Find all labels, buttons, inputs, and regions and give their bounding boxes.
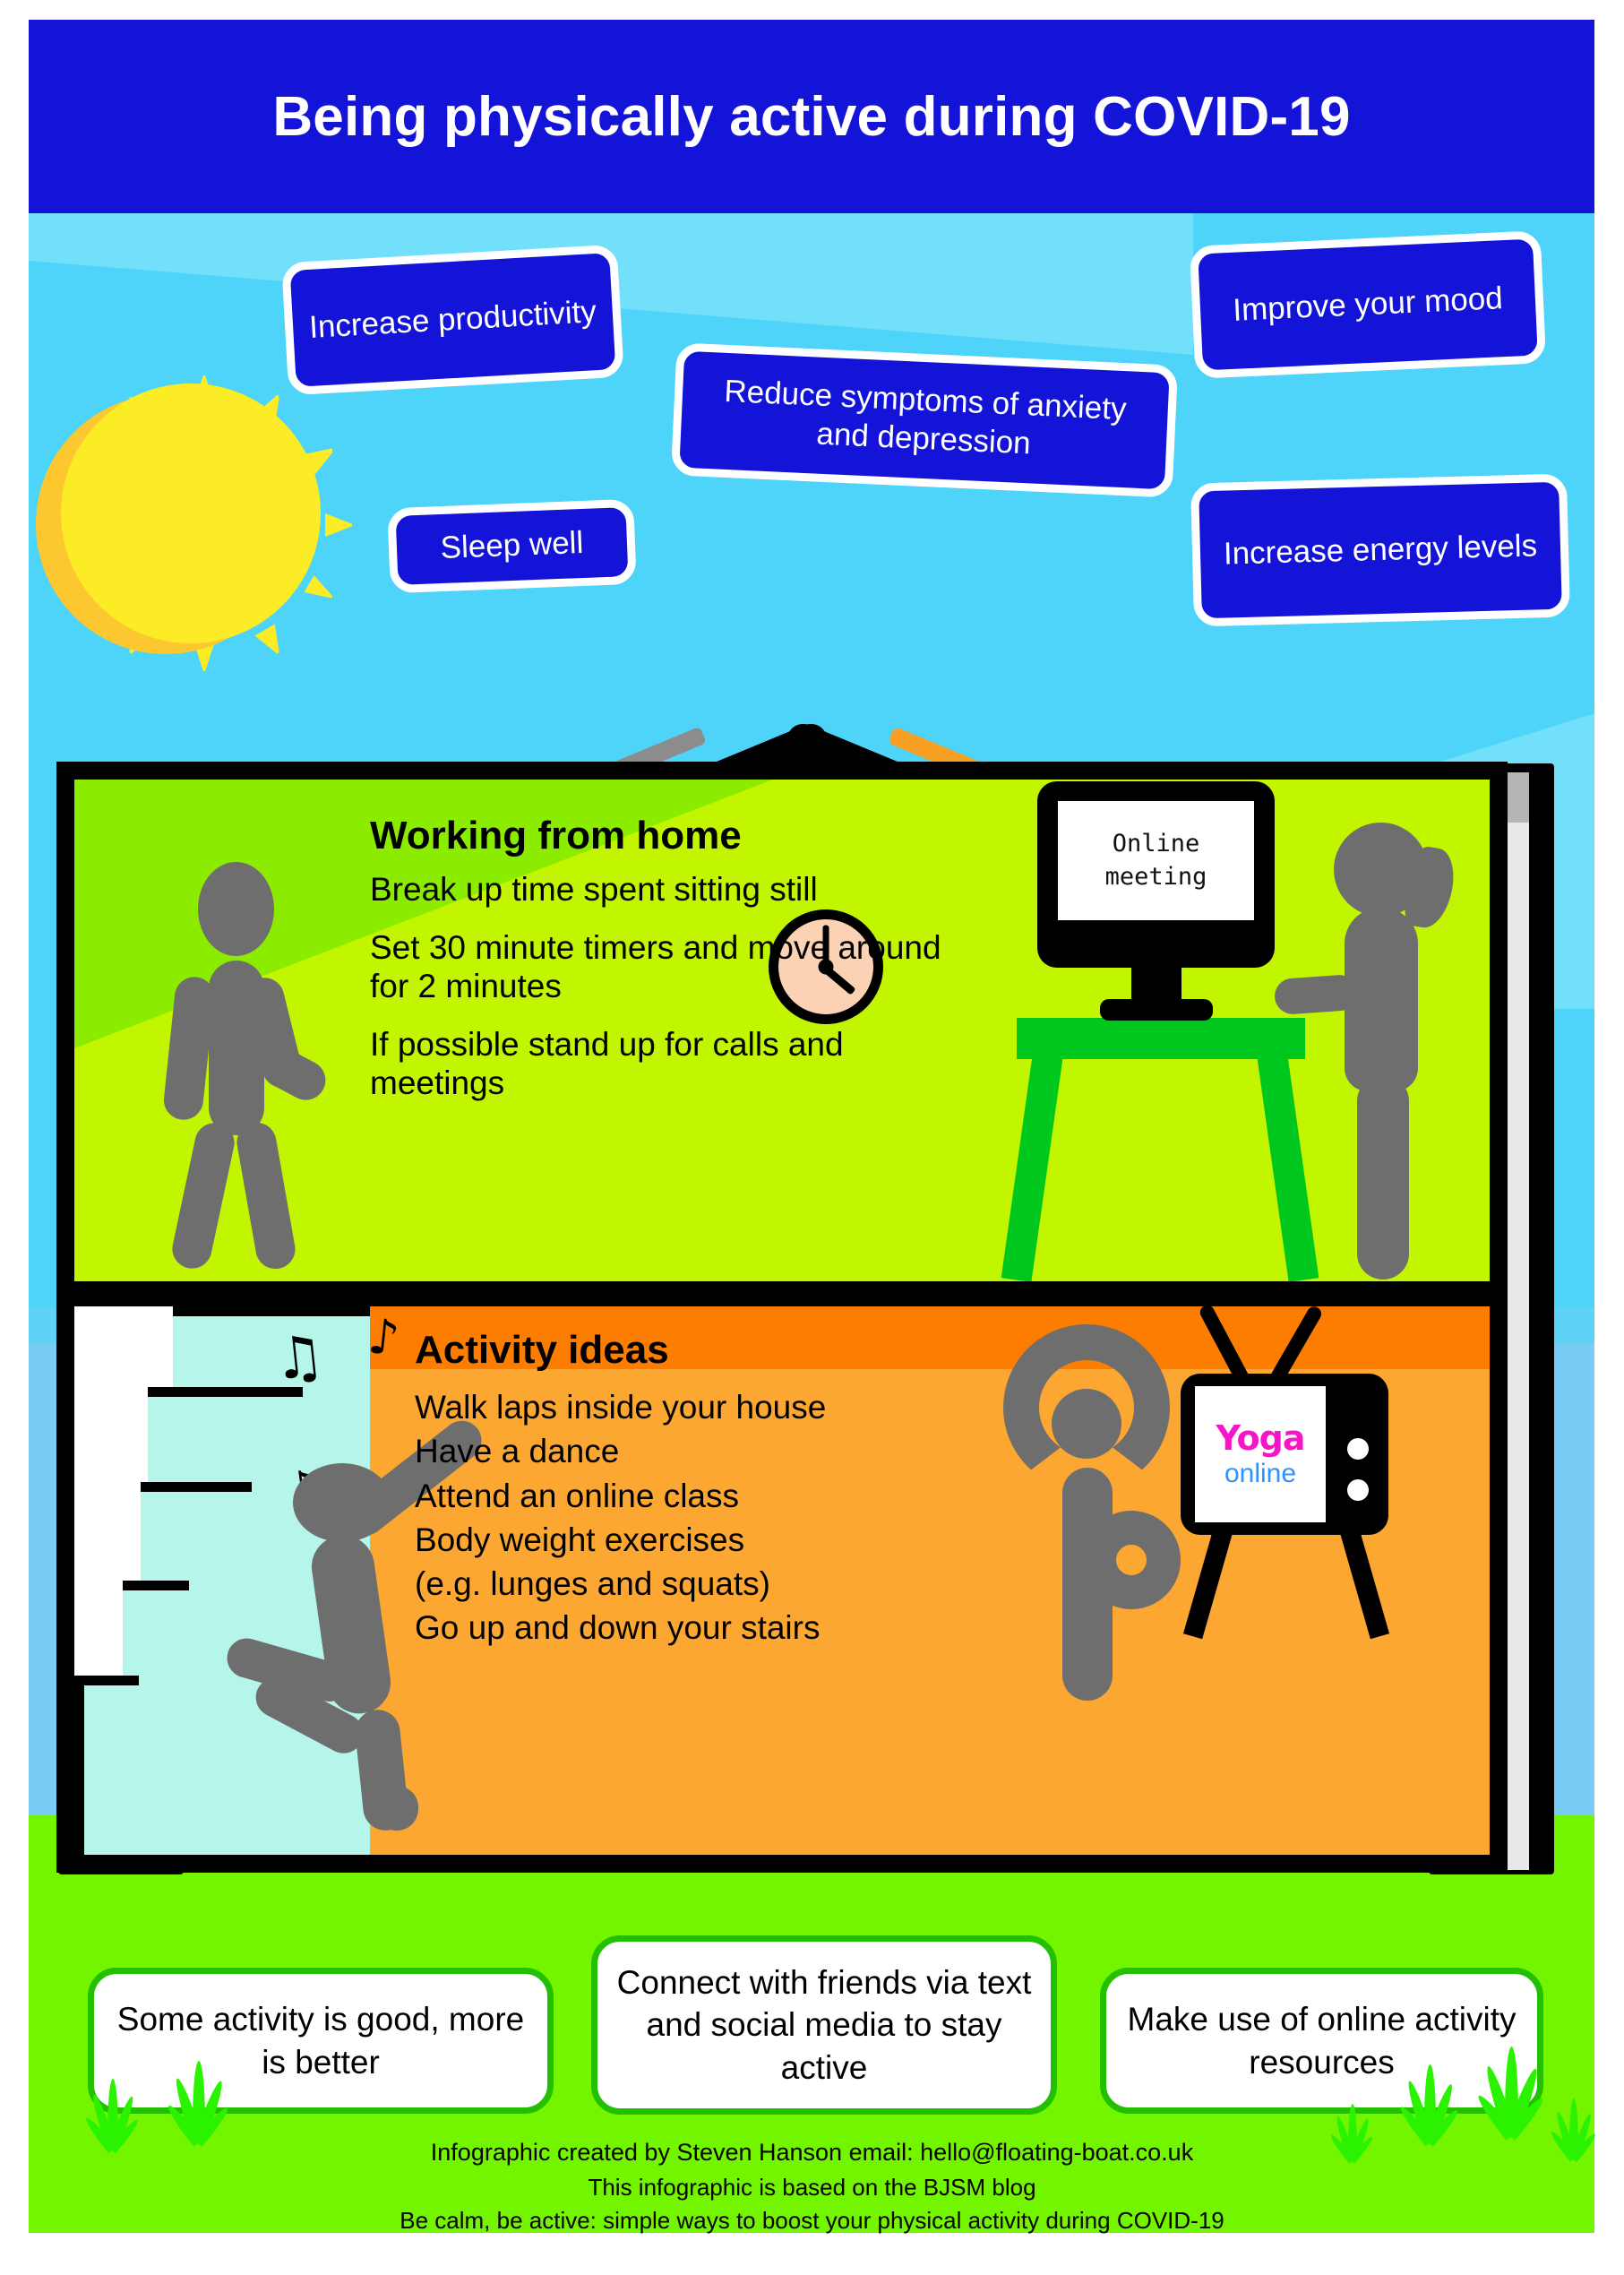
tip-card-connect-friends[interactable]: Connect with friends via text and social… (591, 1935, 1057, 2115)
benefit-bubble-label: Increase energy levels (1223, 527, 1537, 573)
footer-credit: Infographic created by Steven Hanson ema… (0, 2134, 1624, 2171)
benefit-bubble-productivity[interactable]: Increase productivity (281, 245, 624, 396)
list-item: Attend an online class (415, 1474, 1042, 1518)
stair-riser-1 (74, 1306, 173, 1396)
benefit-bubble-mood[interactable]: Improve your mood (1190, 230, 1546, 379)
sun-core (61, 383, 321, 643)
figure-arms-overhead (1003, 1324, 1170, 1491)
monitor-screen-line2: meeting (1105, 861, 1207, 893)
sun-ray (325, 513, 352, 537)
monitor-screen: Online meeting (1058, 801, 1254, 920)
list-item: Body weight exercises (415, 1518, 1042, 1562)
walking-person-figure (157, 862, 363, 1265)
figure-foot-right (375, 1786, 418, 1831)
wfh-tip-2: If possible stand up for calls and meeti… (370, 1026, 961, 1103)
tv: Yoga online (1181, 1374, 1388, 1535)
yoga-person-figure (984, 1315, 1190, 1710)
stair-riser-4 (74, 1581, 123, 1681)
working-from-home-text: Working from home Break up time spent si… (370, 815, 961, 1123)
music-note-icon: ♫ (271, 1327, 328, 1390)
list-item: Walk laps inside your house (415, 1385, 1042, 1429)
figure-legs (1357, 1075, 1409, 1280)
list-item: (e.g. lunges and squats) (415, 1562, 1042, 1606)
standing-person-figure (1310, 823, 1490, 1281)
figure-leg-back (168, 1119, 237, 1272)
stair-riser-3 (74, 1482, 141, 1588)
tv-knob-bottom[interactable] (1347, 1479, 1369, 1501)
stair-step-5 (74, 1676, 139, 1855)
infographic-poster: Being physically active during COVID-19 … (0, 0, 1624, 2275)
figure-leg-front (234, 1119, 298, 1271)
benefit-bubble-label: Increase productivity (308, 293, 597, 348)
monitor-neck (1131, 963, 1181, 1006)
benefit-bubble-label: Reduce symptoms of anxiety and depressio… (694, 372, 1154, 469)
upper-floor-room: Working from home Break up time spent si… (74, 780, 1490, 1281)
footer-source-title: Be calm, be active: simple ways to boost… (0, 2204, 1624, 2238)
tv-screen-online-label: online (1224, 1459, 1296, 1488)
music-note-icon: ♪ (365, 1312, 401, 1363)
tv-leg-left (1183, 1526, 1233, 1639)
benefit-bubble-label: Sleep well (440, 524, 584, 568)
tv-knob-top[interactable] (1347, 1438, 1369, 1460)
benefit-bubble-label: Improve your mood (1232, 280, 1503, 330)
lower-floor-room: ♫ ♪ ♪ Activity ideas Walk laps inside yo… (74, 1306, 1490, 1855)
activity-ideas-text: Activity ideas Walk laps inside your hou… (415, 1330, 1042, 1650)
list-item: Go up and down your stairs (415, 1606, 1042, 1650)
monitor-screen-line1: Online (1113, 828, 1200, 860)
tip-card-label: Make use of online activity resources (1122, 1998, 1521, 2083)
tip-card-label: Some activity is good, more is better (110, 1998, 531, 2083)
monitor: Online meeting (1037, 781, 1275, 968)
house-illustration: Working from home Break up time spent si… (49, 573, 1563, 1891)
figure-head (198, 862, 274, 956)
desk-leg-left (1001, 1052, 1063, 1281)
stair-riser-2 (74, 1387, 148, 1490)
page-title-text: Being physically active during COVID-19 (272, 85, 1350, 149)
footer-source: This infographic is based on the BJSM bl… (0, 2171, 1624, 2205)
tip-card-some-activity[interactable]: Some activity is good, more is better (88, 1968, 554, 2114)
activity-ideas-list: Walk laps inside your house Have a dance… (415, 1385, 1042, 1650)
desk-surface (1017, 1018, 1305, 1059)
working-from-home-heading: Working from home (370, 815, 961, 857)
benefit-bubble-anxiety[interactable]: Reduce symptoms of anxiety and depressio… (671, 342, 1178, 497)
activity-ideas-heading: Activity ideas (415, 1330, 1042, 1371)
wfh-tip-0: Break up time spent sitting still (370, 871, 961, 909)
tv-screen: Yoga online (1195, 1386, 1326, 1522)
tv-leg-right (1339, 1526, 1389, 1639)
tip-card-online-resources[interactable]: Make use of online activity resources (1100, 1968, 1543, 2114)
list-item: Have a dance (415, 1429, 1042, 1473)
tip-card-label: Connect with friends via text and social… (614, 1961, 1035, 2089)
footer: Infographic created by Steven Hanson ema… (0, 2134, 1624, 2238)
wfh-tip-1: Set 30 minute timers and move around for… (370, 929, 961, 1006)
tv-screen-yoga-label: Yoga (1216, 1421, 1305, 1455)
page-title: Being physically active during COVID-19 (29, 20, 1594, 213)
figure-arm (1274, 974, 1359, 1015)
desk-leg-right (1257, 1052, 1319, 1281)
